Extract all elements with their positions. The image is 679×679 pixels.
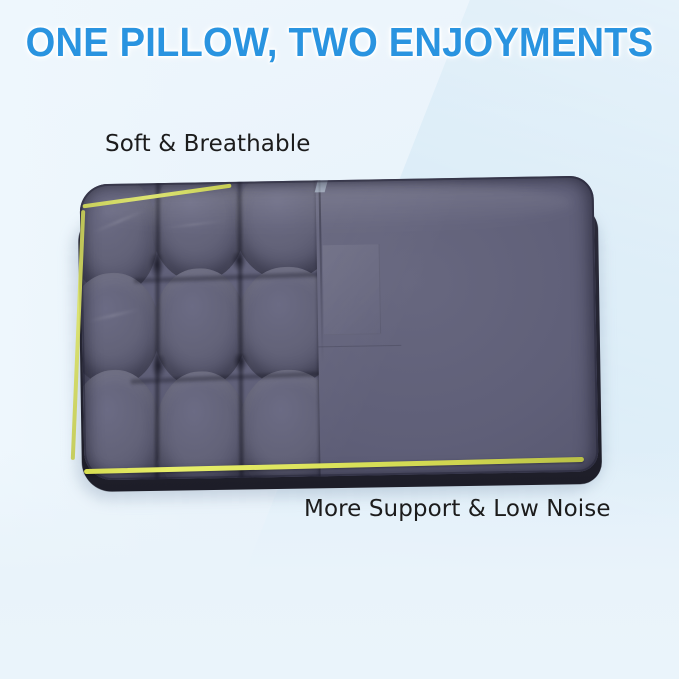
quilt-lobe bbox=[155, 371, 249, 480]
product-banner: ONE PILLOW, TWO ENJOYMENTS bbox=[0, 0, 679, 679]
quilt-lobe bbox=[79, 272, 160, 386]
pillow-quilted-section bbox=[79, 180, 326, 480]
quilt-lobe bbox=[79, 370, 162, 481]
page-title: ONE PILLOW, TWO ENJOYMENTS bbox=[24, 22, 655, 63]
quilt-tuft bbox=[230, 253, 246, 275]
pillow-fabric-panel bbox=[322, 244, 381, 335]
caption-more-support: More Support & Low Noise bbox=[304, 496, 611, 522]
quilt-tuft bbox=[148, 254, 165, 284]
caption-soft-breathable: Soft & Breathable bbox=[105, 131, 310, 157]
pillow-body bbox=[79, 176, 598, 481]
quilt-tuft bbox=[150, 355, 167, 385]
quilt-tuft bbox=[232, 353, 248, 375]
pillow-image bbox=[74, 172, 604, 498]
